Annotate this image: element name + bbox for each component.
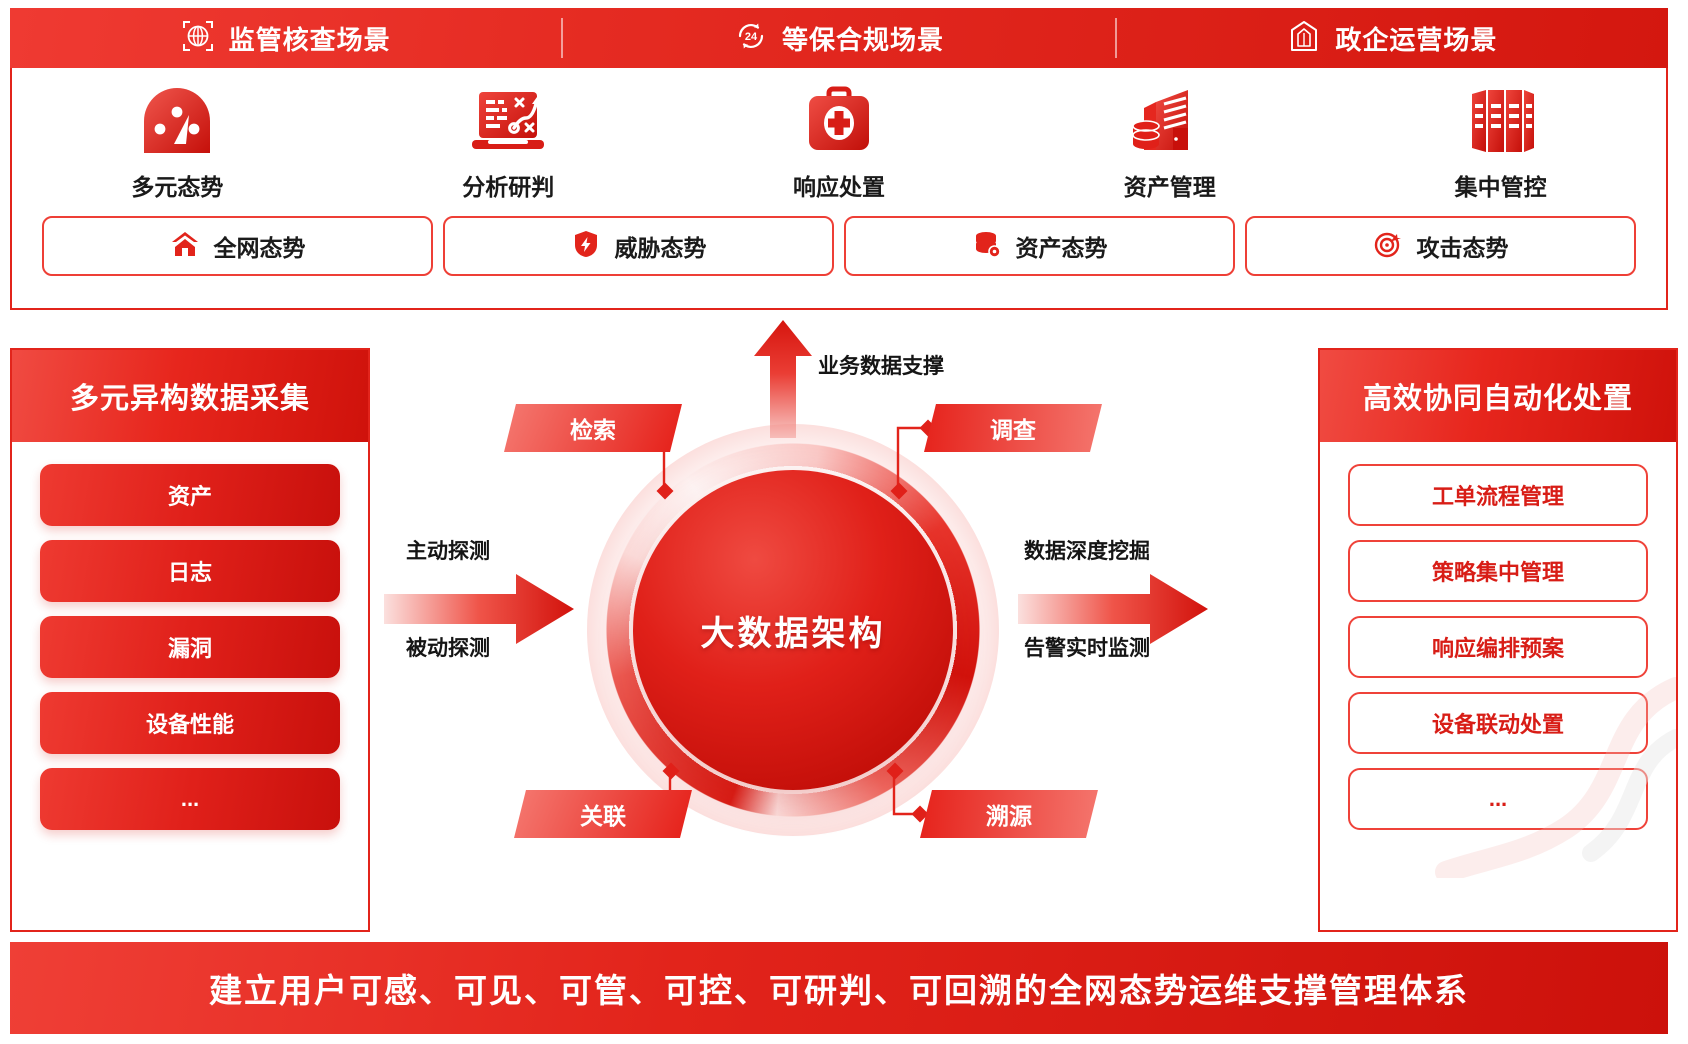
- clock-24-refresh-icon: 24: [734, 19, 768, 58]
- panel-items: 工单流程管理 策略集中管理 响应编排预案 设备联动处置 ...: [1320, 442, 1676, 830]
- list-item[interactable]: 漏洞: [40, 616, 340, 678]
- list-item[interactable]: 工单流程管理: [1348, 464, 1648, 526]
- panel-title: 高效协同自动化处置: [1320, 350, 1676, 442]
- panel-items: 资产 日志 漏洞 设备性能 ...: [12, 442, 368, 830]
- scenario-banner: 监管核查场景 24 等保合规场景: [10, 8, 1668, 68]
- capability-icon-row: 多元态势: [12, 82, 1666, 202]
- flow-label-active-probe: 主动探测: [406, 535, 490, 565]
- scenario-item-gov-enterprise[interactable]: 政企运营场景: [1117, 19, 1668, 58]
- list-item[interactable]: 设备性能: [40, 692, 340, 754]
- data-collection-panel: 多元异构数据采集 资产 日志 漏洞 设备性能 ...: [10, 348, 370, 932]
- pill-label: 资产态势: [1016, 229, 1108, 263]
- pill-label: 威胁态势: [615, 229, 707, 263]
- capability-label: 分析研判: [462, 168, 554, 202]
- capability-item-central-control[interactable]: 集中管控: [1335, 82, 1666, 202]
- scenario-label: 监管核查场景: [229, 20, 391, 57]
- tag-label: 溯源: [986, 797, 1032, 831]
- flow-label-business-support: 业务数据支撑: [818, 350, 944, 380]
- list-item[interactable]: 日志: [40, 540, 340, 602]
- capability-panel: 多元态势: [10, 68, 1668, 310]
- tag-label: 检索: [570, 411, 616, 445]
- diagram-canvas: 监管核查场景 24 等保合规场景: [0, 0, 1688, 1044]
- home-icon: [170, 229, 200, 264]
- scenario-item-supervision[interactable]: 监管核查场景: [10, 19, 561, 58]
- list-item[interactable]: 响应编排预案: [1348, 616, 1648, 678]
- laptop-analytics-icon: [462, 82, 554, 162]
- business-support-arrow: [750, 318, 816, 438]
- tag-label: 调查: [990, 411, 1036, 445]
- capability-label: 响应处置: [793, 168, 885, 202]
- capability-item-situation[interactable]: 多元态势: [12, 82, 343, 202]
- tag-retrieve[interactable]: 检索: [504, 404, 682, 452]
- pill-label: 攻击态势: [1417, 229, 1509, 263]
- list-item[interactable]: ...: [40, 768, 340, 830]
- database-building-icon: [1126, 82, 1214, 162]
- tag-label: 关联: [580, 797, 626, 831]
- shield-bolt-icon: [571, 229, 601, 264]
- capability-item-asset-mgmt[interactable]: 资产管理: [1004, 82, 1335, 202]
- panel-title: 多元异构数据采集: [12, 350, 368, 442]
- capability-item-response[interactable]: 响应处置: [674, 82, 1005, 202]
- tag-trace[interactable]: 溯源: [920, 790, 1098, 838]
- globe-target-icon: [181, 19, 215, 58]
- flow-label-passive-probe: 被动探测: [406, 632, 490, 662]
- big-data-core: 大数据架构: [633, 470, 953, 790]
- list-item[interactable]: 资产: [40, 464, 340, 526]
- shield-building-icon: [1287, 19, 1321, 58]
- flow-label-realtime-alert: 告警实时监测: [1024, 632, 1150, 662]
- server-rack-icon: [1458, 82, 1544, 162]
- pill-threat-situation[interactable]: 威胁态势: [443, 216, 834, 276]
- automated-response-panel: 高效协同自动化处置 工单流程管理 策略集中管理 响应编排预案 设备联动处置 ..…: [1318, 348, 1678, 932]
- footer-banner: 建立用户可感、可见、可管、可控、可研判、可回溯的全网态势运维支撑管理体系: [10, 942, 1668, 1034]
- list-item[interactable]: 设备联动处置: [1348, 692, 1648, 754]
- capability-label: 集中管控: [1455, 168, 1547, 202]
- center-stage: 业务数据支撑 主动探测 被动探测 数据深度挖掘 告警实时监测 大数据架构: [378, 330, 1308, 930]
- first-aid-kit-icon: [797, 82, 881, 162]
- footer-text: 建立用户可感、可见、可管、可控、可研判、可回溯的全网态势运维支撑管理体系: [209, 964, 1469, 1012]
- pill-network-situation[interactable]: 全网态势: [42, 216, 433, 276]
- tag-investigate[interactable]: 调查: [924, 404, 1102, 452]
- pill-label: 全网态势: [214, 229, 306, 263]
- gauge-icon: [134, 82, 220, 162]
- capability-item-analysis[interactable]: 分析研判: [343, 82, 674, 202]
- database-icon: [972, 229, 1002, 264]
- core-sphere: 大数据架构: [633, 470, 953, 790]
- pill-asset-situation[interactable]: 资产态势: [844, 216, 1235, 276]
- list-item[interactable]: ...: [1348, 768, 1648, 830]
- situation-pill-row: 全网态势 威胁态势: [12, 216, 1666, 276]
- core-label: 大数据架构: [701, 606, 886, 655]
- pill-attack-situation[interactable]: 攻击态势: [1245, 216, 1636, 276]
- capability-label: 多元态势: [131, 168, 223, 202]
- scenario-label: 等保合规场景: [782, 20, 944, 57]
- scenario-item-compliance[interactable]: 24 等保合规场景: [563, 19, 1114, 58]
- capability-label: 资产管理: [1124, 168, 1216, 202]
- list-item[interactable]: 策略集中管理: [1348, 540, 1648, 602]
- flow-label-deep-mining: 数据深度挖掘: [1024, 535, 1150, 565]
- target-icon: [1373, 229, 1403, 264]
- tag-correlate[interactable]: 关联: [514, 790, 692, 838]
- svg-text:24: 24: [745, 31, 758, 43]
- scenario-label: 政企运营场景: [1335, 20, 1497, 57]
